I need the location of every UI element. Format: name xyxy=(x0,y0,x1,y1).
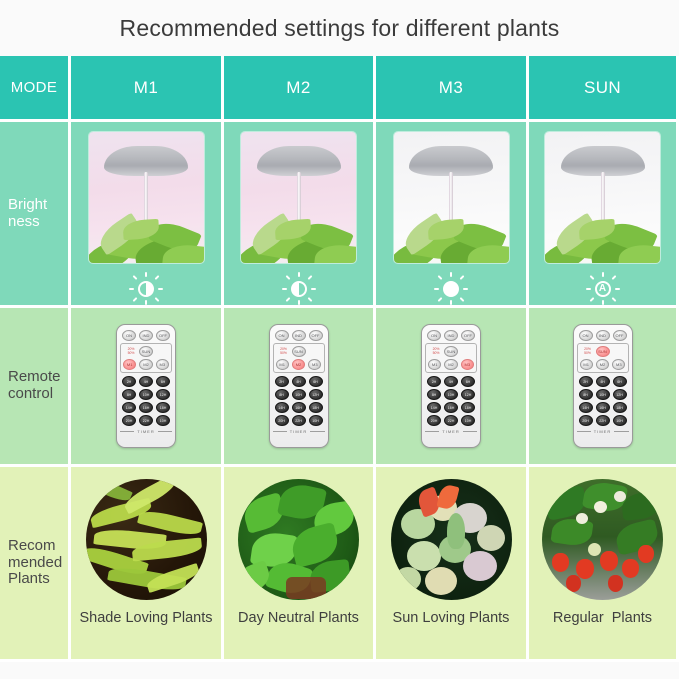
header-mode-m1: M1 xyxy=(134,78,158,98)
remote-button-ind[interactable]: IND xyxy=(139,330,153,341)
remote-timer-10h[interactable]: 10H xyxy=(444,389,458,400)
brightness-half-left-icon xyxy=(282,272,316,305)
brightness-cell-sun: A xyxy=(529,122,679,308)
row-label-remote-line1: Remote xyxy=(8,369,61,386)
remote-timer-14h[interactable]: 14H xyxy=(427,402,441,413)
remote-button-off[interactable]: OFF xyxy=(309,330,323,341)
row-label-brightness-line1: Bright xyxy=(8,197,47,214)
remote-timer-10h[interactable]: 10H xyxy=(596,389,610,400)
remote-control-m1[interactable]: ON IND OFF 20%50% SUN M1 M2 xyxy=(116,324,176,448)
remote-timer-grid[interactable]: 2H 4H 6H 8H 10H 12H 14H 16H 18H xyxy=(427,376,475,426)
row-label-brightness: Bright ness xyxy=(0,122,71,308)
remote-button-on[interactable]: ON xyxy=(122,330,136,341)
remote-timer-22h[interactable]: 22H xyxy=(139,415,153,426)
table-header-m2: M2 xyxy=(224,56,376,122)
remote-timer-4h[interactable]: 4H xyxy=(139,376,153,387)
remote-timer-8h[interactable]: 8H xyxy=(427,389,441,400)
remote-timer-2h[interactable]: 2H xyxy=(122,376,136,387)
table-header-sun: SUN xyxy=(529,56,679,122)
remote-button-m1[interactable]: M1 xyxy=(123,359,136,370)
remote-timer-label: TIMER xyxy=(120,429,172,434)
remote-button-on[interactable]: ON xyxy=(427,330,441,341)
remote-timer-22h[interactable]: 22H xyxy=(596,415,610,426)
page-title: Recommended settings for different plant… xyxy=(0,0,679,56)
strawberry-photo xyxy=(542,479,663,600)
plants-cell-m1: Shade Loving Plants xyxy=(71,467,224,662)
plant-label-m1: Shade Loving Plants xyxy=(79,610,212,626)
plant-label-m3: Sun Loving Plants xyxy=(393,610,510,626)
brightness-cell-m3 xyxy=(376,122,529,308)
remote-timer-20h[interactable]: 20H xyxy=(275,415,289,426)
remote-button-on[interactable]: ON xyxy=(579,330,593,341)
remote-timer-20h[interactable]: 20H xyxy=(579,415,593,426)
grow-lamp-photo-m3 xyxy=(394,132,509,263)
remote-timer-grid[interactable]: 2H 4H 6H 8H 10H 12H 14H 16H 18H xyxy=(275,376,323,426)
remote-timer-4h[interactable]: 4H xyxy=(596,376,610,387)
remote-timer-label: TIMER xyxy=(273,429,325,434)
remote-timer-10h[interactable]: 10H xyxy=(139,389,153,400)
remote-timer-24h[interactable]: 10H xyxy=(461,415,475,426)
remote-timer-2h[interactable]: 2H xyxy=(275,376,289,387)
remote-timer-22h[interactable]: 22H xyxy=(292,415,306,426)
remote-timer-12h[interactable]: 12H xyxy=(613,389,627,400)
remote-button-on[interactable]: ON xyxy=(275,330,289,341)
recommended-settings-chart: Recommended settings for different plant… xyxy=(0,0,679,679)
remote-cell-m2: ON IND OFF 20%50% SUN M1 M2 xyxy=(224,308,376,467)
remote-timer-22h[interactable]: 22H xyxy=(444,415,458,426)
row-label-brightness-line2: ness xyxy=(8,214,47,231)
plants-cell-sun: Regular Plants xyxy=(529,467,679,662)
remote-timer-8h[interactable]: 8H xyxy=(122,389,136,400)
table-header-m3: M3 xyxy=(376,56,529,122)
remote-button-sun[interactable]: SUN xyxy=(596,346,610,357)
remote-button-sun[interactable]: SUN xyxy=(139,346,153,357)
remote-button-m3[interactable]: M3 xyxy=(308,359,321,370)
remote-timer-24h[interactable]: 10H xyxy=(613,415,627,426)
remote-dimmer-label: 20%50% xyxy=(124,348,138,355)
remote-timer-8h[interactable]: 8H xyxy=(579,389,593,400)
remote-timer-6h[interactable]: 6H xyxy=(156,376,170,387)
plants-cell-m2: Day Neutral Plants xyxy=(224,467,376,662)
header-mode-m3: M3 xyxy=(439,78,463,98)
remote-button-sun[interactable]: SUN xyxy=(444,346,458,357)
row-label-plants-line1: Recom xyxy=(8,538,62,555)
remote-button-sun[interactable]: SUN xyxy=(292,346,306,357)
succulents-photo xyxy=(391,479,512,600)
brightness-cell-m2 xyxy=(224,122,376,308)
row-label-recommended-plants: Recom mended Plants xyxy=(0,467,71,662)
remote-button-ind[interactable]: IND xyxy=(292,330,306,341)
grow-lamp-photo-m1 xyxy=(89,132,204,263)
remote-button-m2[interactable]: M2 xyxy=(444,359,457,370)
remote-timer-18h[interactable]: 18H xyxy=(309,402,323,413)
remote-timer-2h[interactable]: 2H xyxy=(427,376,441,387)
row-label-remote-control: Remote control xyxy=(0,308,71,467)
plants-cell-m3: Sun Loving Plants xyxy=(376,467,529,662)
remote-timer-16h[interactable]: 16H xyxy=(292,402,306,413)
brightness-auto-letter: A xyxy=(586,272,620,306)
remote-timer-grid[interactable]: 2H 4H 6H 8H 10H 12H 14H 16H 18H xyxy=(579,376,627,426)
remote-button-m2[interactable]: M2 xyxy=(596,359,609,370)
remote-button-off[interactable]: OFF xyxy=(613,330,627,341)
remote-timer-grid[interactable]: 2H 4H 6H 8H 10H 12H 14H 16H 18H xyxy=(122,376,170,426)
remote-timer-18h[interactable]: 18H xyxy=(461,402,475,413)
header-mode-label: MODE xyxy=(11,79,58,96)
remote-control-m3[interactable]: ON IND OFF 20%50% SUN M1 M2 xyxy=(421,324,481,448)
remote-timer-16h[interactable]: 16H xyxy=(444,402,458,413)
remote-button-ind[interactable]: IND xyxy=(596,330,610,341)
table-header-m1: M1 xyxy=(71,56,224,122)
brightness-auto-icon: A xyxy=(586,272,620,305)
grow-lamp-photo-m2 xyxy=(241,132,356,263)
remote-timer-12h[interactable]: 12H xyxy=(156,389,170,400)
row-label-plants-line2: mended xyxy=(8,555,62,572)
remote-timer-18h[interactable]: 18H xyxy=(613,402,627,413)
plant-label-sun: Regular Plants xyxy=(553,610,652,626)
remote-button-m2[interactable]: M2 xyxy=(292,359,305,370)
remote-control-m2[interactable]: ON IND OFF 20%50% SUN M1 M2 xyxy=(269,324,329,448)
remote-button-m3[interactable]: M3 xyxy=(461,359,474,370)
header-mode-sun: SUN xyxy=(584,78,621,98)
remote-timer-4h[interactable]: 4H xyxy=(292,376,306,387)
remote-button-m3[interactable]: M3 xyxy=(612,359,625,370)
remote-timer-14h[interactable]: 14H xyxy=(275,402,289,413)
remote-timer-12h[interactable]: 12H xyxy=(309,389,323,400)
row-label-plants-line3: Plants xyxy=(8,571,62,588)
remote-timer-24h[interactable]: 10H xyxy=(309,415,323,426)
remote-timer-12h[interactable]: 12H xyxy=(461,389,475,400)
row-label-remote-line2: control xyxy=(8,386,61,403)
remote-timer-label: TIMER xyxy=(577,429,629,434)
remote-timer-16h[interactable]: 16H xyxy=(596,402,610,413)
brightness-full-icon xyxy=(434,272,468,305)
remote-dimmer-label: 20%50% xyxy=(429,348,443,355)
remote-timer-20h[interactable]: 20H xyxy=(427,415,441,426)
grow-lamp-photo-sun xyxy=(545,132,660,263)
remote-timer-18h[interactable]: 18H xyxy=(156,402,170,413)
remote-timer-6h[interactable]: 6H xyxy=(461,376,475,387)
remote-cell-sun: ON IND OFF 20%50% SUN M1 M2 xyxy=(529,308,679,467)
remote-timer-10h[interactable]: 10H xyxy=(292,389,306,400)
remote-button-m1[interactable]: M1 xyxy=(580,359,593,370)
remote-timer-6h[interactable]: 6H xyxy=(309,376,323,387)
remote-dimmer-label: 20%50% xyxy=(581,348,595,355)
header-mode-m2: M2 xyxy=(286,78,310,98)
remote-timer-14h[interactable]: 14H xyxy=(122,402,136,413)
remote-timer-14h[interactable]: 14H xyxy=(579,402,593,413)
remote-button-off[interactable]: OFF xyxy=(461,330,475,341)
fern-photo xyxy=(86,479,207,600)
remote-timer-4h[interactable]: 4H xyxy=(444,376,458,387)
remote-timer-16h[interactable]: 16H xyxy=(139,402,153,413)
remote-timer-24h[interactable]: 10H xyxy=(156,415,170,426)
remote-button-ind[interactable]: IND xyxy=(444,330,458,341)
remote-timer-20h[interactable]: 20H xyxy=(122,415,136,426)
remote-timer-6h[interactable]: 6H xyxy=(613,376,627,387)
table-header-mode: MODE xyxy=(0,56,71,122)
remote-control-sun[interactable]: ON IND OFF 20%50% SUN M1 M2 xyxy=(573,324,633,448)
remote-button-m2[interactable]: M2 xyxy=(139,359,152,370)
remote-timer-2h[interactable]: 2H xyxy=(579,376,593,387)
remote-button-m1[interactable]: M1 xyxy=(276,359,289,370)
remote-button-off[interactable]: OFF xyxy=(156,330,170,341)
remote-timer-8h[interactable]: 8H xyxy=(275,389,289,400)
remote-button-m3[interactable]: M3 xyxy=(156,359,169,370)
remote-cell-m3: ON IND OFF 20%50% SUN M1 M2 xyxy=(376,308,529,467)
remote-button-m1[interactable]: M1 xyxy=(428,359,441,370)
plant-label-m2: Day Neutral Plants xyxy=(238,610,359,626)
brightness-cell-m1 xyxy=(71,122,224,308)
remote-cell-m1: ON IND OFF 20%50% SUN M1 M2 xyxy=(71,308,224,467)
remote-dimmer-label: 20%50% xyxy=(277,348,291,355)
settings-table: MODE M1 M2 M3 SUN Bright ness xyxy=(0,56,679,662)
brightness-half-right-icon xyxy=(129,272,163,305)
ivy-pothos-photo xyxy=(238,479,359,600)
remote-timer-label: TIMER xyxy=(425,429,477,434)
